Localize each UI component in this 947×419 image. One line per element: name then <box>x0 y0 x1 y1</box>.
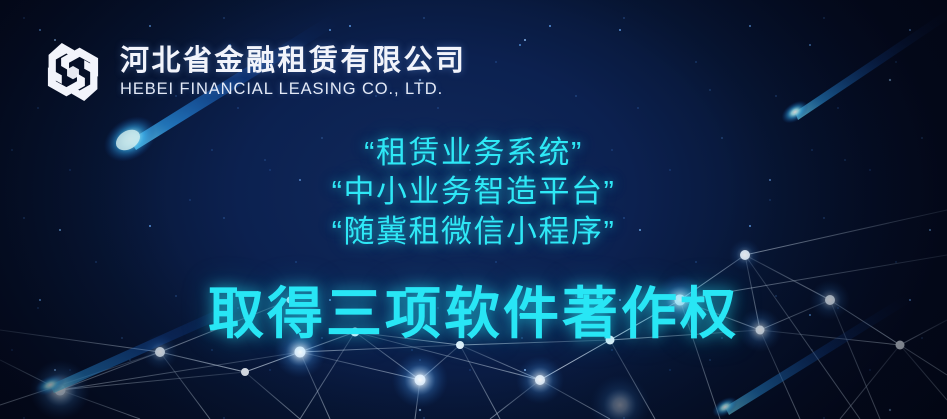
product-quote-line-1: “租赁业务系统” <box>0 133 947 172</box>
brand-text-block: 河北省金融租赁有限公司 HEBEI FINANCIAL LEASING CO.,… <box>120 44 467 99</box>
product-quote-line-2: “中小业务智造平台” <box>0 172 947 211</box>
company-name-cn: 河北省金融租赁有限公司 <box>120 44 467 78</box>
hexagon-interlock-logo-icon <box>40 38 106 106</box>
promo-banner: 河北省金融租赁有限公司 HEBEI FINANCIAL LEASING CO.,… <box>0 0 947 419</box>
product-quote-list: “租赁业务系统” “中小业务智造平台” “随冀租微信小程序” <box>0 133 947 251</box>
banner-content: 河北省金融租赁有限公司 HEBEI FINANCIAL LEASING CO.,… <box>0 0 947 419</box>
headline-text: 取得三项软件著作权 <box>0 286 947 342</box>
product-quote-line-3: “随冀租微信小程序” <box>0 212 947 251</box>
brand-lockup: 河北省金融租赁有限公司 HEBEI FINANCIAL LEASING CO.,… <box>40 38 467 106</box>
company-name-en: HEBEI FINANCIAL LEASING CO., LTD. <box>120 80 467 100</box>
